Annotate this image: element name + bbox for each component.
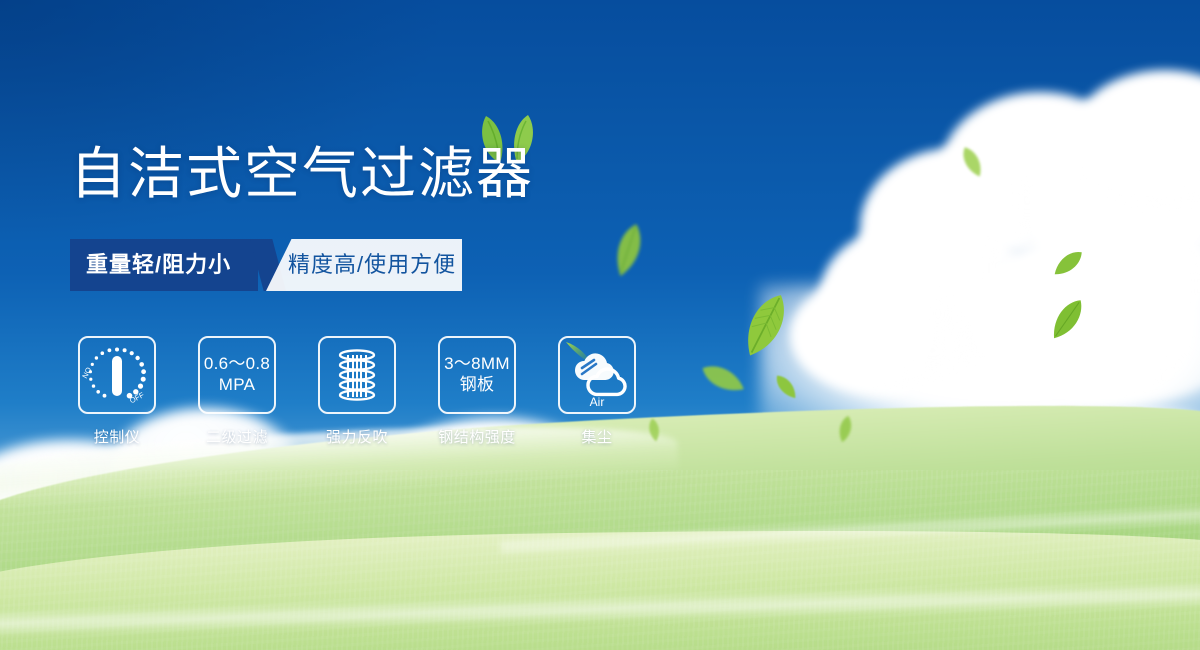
feature-item-steel[interactable]: 3～8MM 钢板 钢结构强度 — [430, 336, 524, 447]
dial-gauge-icon: NO OFF — [78, 336, 156, 414]
steel-material: 钢板 — [444, 375, 510, 396]
svg-text:NO: NO — [82, 366, 93, 380]
feature-label: 强力反吹 — [326, 426, 388, 447]
feature-list: NO OFF 控制仪 0.6～0.8 MPA 二级过滤 — [70, 336, 644, 447]
svg-text:Air: Air — [590, 395, 605, 409]
feature-label: 控制仪 — [94, 426, 141, 447]
subtitle-right-text: 精度高/使用方便 — [288, 239, 456, 291]
promo-banner: 自洁式空气过滤器 重量轻/阻力小 精度高/使用方便 — [0, 0, 1200, 650]
feature-label: 钢结构强度 — [438, 426, 516, 447]
feature-item-control[interactable]: NO OFF 控制仪 — [70, 336, 164, 447]
subtitle-bar: 重量轻/阻力小 精度高/使用方便 — [70, 239, 462, 291]
pressure-unit: MPA — [204, 375, 270, 396]
feature-item-pressure[interactable]: 0.6～0.8 MPA 二级过滤 — [190, 336, 284, 447]
feature-item-backblow[interactable]: 强力反吹 — [310, 336, 404, 447]
pressure-value: 0.6～0.8 — [204, 354, 270, 375]
steel-thickness: 3～8MM — [444, 354, 510, 375]
pressure-text-icon: 0.6～0.8 MPA — [198, 336, 276, 414]
svg-text:OFF: OFF — [128, 390, 146, 405]
page-title: 自洁式空气过滤器 — [70, 146, 534, 202]
steel-plate-text-icon: 3～8MM 钢板 — [438, 336, 516, 414]
feature-label: 集尘 — [581, 426, 612, 447]
air-cloud-icon: Air — [558, 336, 636, 414]
feature-item-dust[interactable]: Air 集尘 — [550, 336, 644, 447]
subtitle-left-text: 重量轻/阻力小 — [86, 239, 231, 291]
feature-label: 二级过滤 — [206, 426, 268, 447]
filter-cartridge-icon — [318, 336, 396, 414]
